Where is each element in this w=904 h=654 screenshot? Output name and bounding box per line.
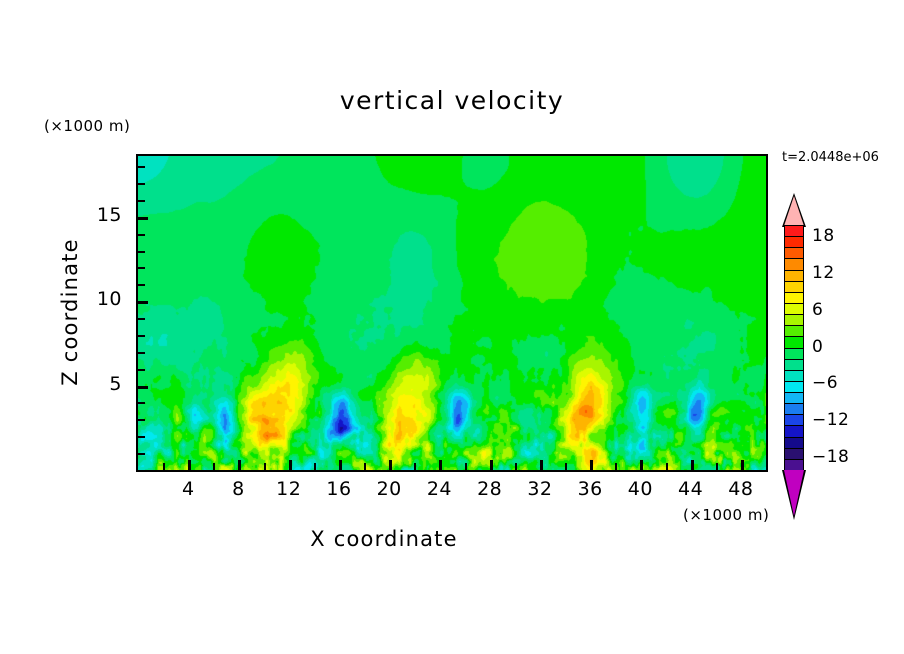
colorbar-under-arrow	[784, 470, 804, 516]
x-tick-minor	[213, 463, 215, 470]
y-tick-10	[138, 301, 148, 304]
x-tick-44	[691, 460, 694, 470]
y-tick-minor	[138, 419, 145, 421]
y-tick-minor	[138, 369, 145, 371]
x-tick-12	[289, 460, 292, 470]
x-tick-label-32: 32	[520, 478, 560, 500]
colorbar-label-12: 12	[812, 263, 835, 283]
y-tick-label-10: 10	[86, 288, 122, 310]
x-tick-label-8: 8	[218, 478, 258, 500]
x-axis-unit-label: (×1000 m)	[683, 506, 769, 524]
x-tick-label-40: 40	[620, 478, 660, 500]
time-annotation: t=2.0448e+06	[782, 150, 879, 165]
x-tick-minor	[716, 463, 718, 470]
colorbar-label--18: −18	[812, 447, 849, 467]
y-tick-minor	[138, 402, 145, 404]
colorbar-label-6: 6	[812, 300, 823, 320]
x-tick-16	[339, 460, 342, 470]
y-axis-title: Z coordinate	[58, 222, 82, 402]
x-tick-minor	[163, 463, 165, 470]
y-tick-15	[138, 217, 148, 220]
x-axis-title: X coordinate	[0, 527, 768, 551]
x-tick-40	[640, 460, 643, 470]
y-tick-minor	[138, 183, 145, 185]
vertical-velocity-contour-field	[138, 156, 766, 470]
y-tick-minor	[138, 284, 145, 286]
x-tick-minor	[465, 463, 467, 470]
x-tick-minor	[565, 463, 567, 470]
z-axis-unit-label: (×1000 m)	[44, 117, 130, 135]
colorbar-label-18: 18	[812, 226, 835, 246]
y-tick-minor	[138, 234, 145, 236]
y-tick-minor	[138, 200, 145, 202]
x-tick-20	[389, 460, 392, 470]
x-tick-label-44: 44	[671, 478, 711, 500]
x-tick-36	[590, 460, 593, 470]
y-tick-minor	[138, 267, 145, 269]
x-tick-32	[540, 460, 543, 470]
x-tick-label-16: 16	[319, 478, 359, 500]
x-tick-label-4: 4	[168, 478, 208, 500]
x-tick-48	[741, 460, 744, 470]
colorbar-over-arrow	[784, 196, 804, 226]
y-tick-minor	[138, 166, 145, 168]
x-tick-minor	[264, 463, 266, 470]
colorbar-label-0: 0	[812, 337, 823, 357]
colorbar-label--12: −12	[812, 410, 849, 430]
x-tick-minor	[314, 463, 316, 470]
page-title: vertical velocity	[0, 86, 904, 115]
x-tick-minor	[414, 463, 416, 470]
x-tick-label-24: 24	[419, 478, 459, 500]
y-tick-5	[138, 386, 148, 389]
colorbar-label--6: −6	[812, 373, 838, 393]
y-tick-minor	[138, 453, 145, 455]
x-tick-minor	[615, 463, 617, 470]
y-tick-minor	[138, 251, 145, 253]
x-tick-label-12: 12	[269, 478, 309, 500]
x-tick-minor	[515, 463, 517, 470]
x-tick-label-28: 28	[470, 478, 510, 500]
y-tick-minor	[138, 318, 145, 320]
x-tick-label-36: 36	[570, 478, 610, 500]
x-tick-minor	[666, 463, 668, 470]
y-tick-label-15: 15	[86, 204, 122, 226]
x-tick-label-20: 20	[369, 478, 409, 500]
y-tick-minor	[138, 352, 145, 354]
y-tick-minor	[138, 335, 145, 337]
x-tick-24	[439, 460, 442, 470]
x-tick-4	[188, 460, 191, 470]
x-tick-minor	[364, 463, 366, 470]
colorbar	[784, 225, 804, 470]
y-tick-label-5: 5	[86, 373, 122, 395]
contour-plot-area	[136, 154, 768, 472]
x-tick-28	[490, 460, 493, 470]
x-tick-8	[238, 460, 241, 470]
x-tick-label-48: 48	[721, 478, 761, 500]
y-tick-minor	[138, 436, 145, 438]
